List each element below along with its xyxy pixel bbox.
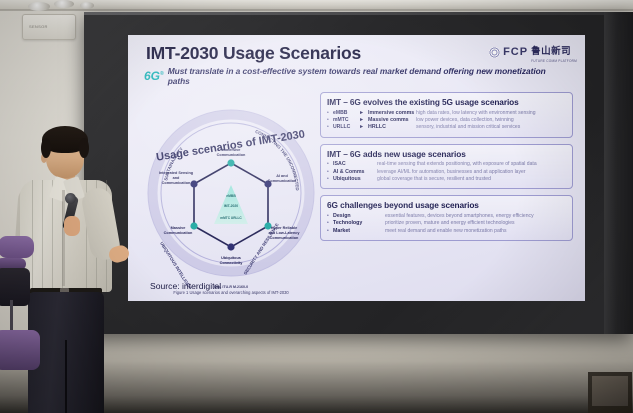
svg-text:and: and (173, 176, 180, 180)
row-description: essential features, devices beyond smart… (385, 213, 566, 220)
svg-text:Immersive: Immersive (222, 148, 241, 152)
row-key: Market (333, 228, 385, 235)
slide-subtitle-bar: 6G® Must translate in a cost-effective s… (144, 67, 569, 84)
ceiling-lamp-icon (80, 2, 94, 9)
microphone-head-icon (65, 193, 76, 204)
logo-cn-text: 鲁山新司 (531, 46, 571, 57)
presenter-hand-holding-mic (64, 216, 80, 236)
slide-subtitle-text: Must translate in a cost-effective syste… (168, 66, 569, 86)
6g-badge-icon: 6G® (144, 70, 164, 82)
row-description: sensory, industrial and mission critical… (416, 124, 566, 131)
card-row: • Ubiquitous global coverage that is sec… (327, 176, 566, 183)
svg-text:Communication: Communication (217, 153, 246, 157)
svg-text:and Low-Latency: and Low-Latency (268, 231, 300, 235)
card-row: • URLLC ► HRLLC sensory, industrial and … (327, 124, 566, 131)
row-description: real-time sensing that extends positioni… (377, 161, 566, 168)
row-description: meet real demand and enable new monetiza… (385, 228, 566, 235)
slide-source-text: Source: interdigital (150, 281, 221, 291)
svg-text:AI and: AI and (276, 174, 288, 178)
row-description: high data rates, low latency with enviro… (416, 110, 566, 117)
card-title: 6G challenges beyond usage scenarios (327, 200, 566, 210)
row-key: Ubiquitous (333, 176, 377, 183)
imt2030-hexagon-diagram: SUSTAINABILITY CONNECTING THE UNCONNECTE… (142, 93, 320, 288)
display-bezel-highlight (84, 12, 633, 15)
svg-text:IMT-2020: IMT-2020 (224, 204, 238, 208)
display-bezel-right (604, 12, 633, 334)
svg-text:Communication: Communication (162, 181, 191, 185)
foreground-object-face (592, 376, 628, 406)
card-title: IMT – 6G adds new usage scenarios (327, 149, 566, 159)
svg-text:Communication: Communication (270, 236, 299, 240)
purple-stool-seat (0, 236, 34, 258)
arrow-right-icon: ► (359, 117, 368, 124)
wall-sensor-device: SENSOR (22, 14, 76, 40)
svg-text:mMTC URLLC: mMTC URLLC (220, 216, 242, 220)
svg-text:Communication: Communication (268, 179, 297, 183)
row-description: prioritize proven, mature and energy eff… (385, 220, 566, 227)
row-key-from: mMTC (333, 117, 359, 124)
hexagon-diagram-svg: SUSTAINABILITY CONNECTING THE UNCONNECTE… (142, 93, 320, 288)
row-description: low power devices, data collection, twin… (416, 117, 566, 124)
row-key: Design (333, 213, 385, 220)
trouser-split (65, 340, 67, 413)
sensor-label: SENSOR (29, 24, 48, 29)
card-evolves: IMT – 6G evolves the existing 5G usage s… (320, 92, 573, 138)
fcp-logo: FCP 鲁山新司 FUTURE COMM PLATFORM (489, 41, 577, 63)
card-adds-new: IMT – 6G adds new usage scenarios • ISAC… (320, 144, 573, 190)
card-row: • Technology prioritize proven, mature a… (327, 220, 566, 227)
svg-text:Ubiquitous: Ubiquitous (221, 256, 241, 260)
svg-text:Integrated Sensing: Integrated Sensing (159, 171, 194, 175)
arrow-right-icon: ► (359, 124, 368, 131)
presenter-hair-side (41, 138, 51, 158)
card-row: • mMTC ► Massive comms low power devices… (327, 117, 566, 124)
stool-body (0, 268, 30, 306)
usage-scenario-cards: IMT – 6G evolves the existing 5G usage s… (320, 92, 573, 247)
row-key-from: eMBB (333, 110, 359, 117)
card-challenges: 6G challenges beyond usage scenarios • D… (320, 195, 573, 241)
svg-text:Massive: Massive (171, 226, 186, 230)
presenter-hair-side (79, 138, 89, 158)
ceiling-lamp-icon (54, 0, 74, 8)
row-key-from: URLLC (333, 124, 359, 131)
card-row: • eMBB ► Immersive comms high data rates… (327, 110, 566, 117)
row-key-to: HRLLC (368, 124, 416, 131)
presenter-shirt-placket (62, 190, 65, 286)
svg-text:eMBB: eMBB (226, 194, 236, 198)
arrow-right-icon: ► (359, 110, 368, 117)
svg-text:Communication: Communication (164, 231, 193, 235)
slide-title: IMT-2030 Usage Scenarios (146, 43, 361, 64)
row-description: global coverage that is secure, resilien… (377, 176, 566, 183)
logo-cn-block: 鲁山新司 FUTURE COMM PLATFORM (531, 41, 577, 63)
card-row: • ISAC real-time sensing that extends po… (327, 161, 566, 168)
logo-cn-subtext: FUTURE COMM PLATFORM (531, 59, 577, 63)
row-key: ISAC (333, 161, 377, 168)
presentation-slide: IMT-2030 Usage Scenarios FCP 鲁山新司 FUTURE… (128, 35, 585, 301)
row-key-to: Massive comms (368, 117, 416, 124)
card-title: IMT – 6G evolves the existing 5G usage s… (327, 97, 566, 107)
svg-text:Hyper Reliable: Hyper Reliable (271, 226, 297, 230)
fcp-circle-icon (489, 47, 500, 58)
logo-fcp-text: FCP (503, 46, 528, 58)
card-row: • AI & Comms leverage AI/ML for automati… (327, 169, 566, 176)
svg-text:Connectivity: Connectivity (220, 261, 244, 265)
row-key-to: Immersive comms (368, 110, 416, 117)
ceiling-lamp-icon (28, 2, 50, 11)
ceiling-line (0, 9, 633, 11)
card-row: • Market meet real demand and enable new… (327, 228, 566, 235)
stool-base (0, 330, 40, 370)
photo-scene: SENSOR IMT-2030 Usage Scenarios FCP 鲁山新司… (0, 0, 633, 413)
row-key: Technology (333, 220, 385, 227)
card-row: • Design essential features, devices bey… (327, 213, 566, 220)
row-key: AI & Comms (333, 169, 377, 176)
row-description: leverage AI/ML for automation, businesse… (377, 169, 566, 176)
